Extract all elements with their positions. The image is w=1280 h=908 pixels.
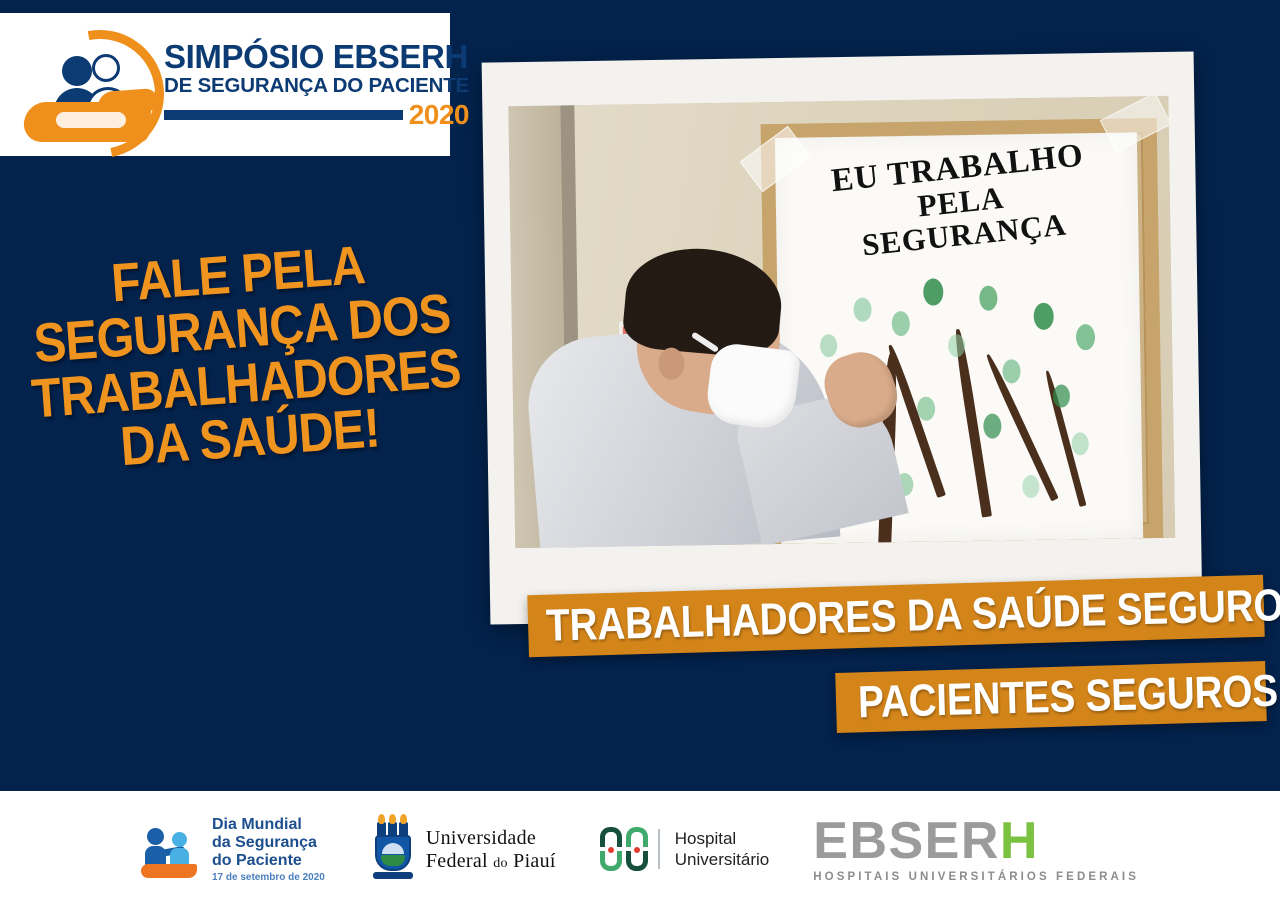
logo-universidade-federal-do-piaui: Universidade Federal do Piauí (369, 821, 556, 879)
event-year-row: 2020 (164, 101, 469, 129)
logo-hand-highlight (56, 112, 126, 128)
campaign-photo: EU TRABALHO PELA SEGURANÇA (508, 96, 1175, 548)
ufpi-do: do (493, 856, 508, 871)
dia-mundial-text: Dia Mundial da Segurança do Paciente 17 … (212, 816, 325, 884)
dia-mundial-date: 17 de setembro de 2020 (212, 872, 325, 883)
hu-line-2: Universitário (675, 850, 769, 870)
ufpi-line-1: Universidade (426, 827, 556, 849)
event-subtitle: DE SEGURANÇA DO PACIENTE (164, 74, 469, 99)
event-logo-card: SIMPÓSIO EBSERH DE SEGURANÇA DO PACIENTE… (0, 13, 450, 156)
poster-canvas: SIMPÓSIO EBSERH DE SEGURANÇA DO PACIENTE… (0, 0, 1280, 908)
ufpi-text: Universidade Federal do Piauí (426, 827, 556, 872)
banner-line-2-text: PACIENTES SEGUROS (857, 665, 1278, 729)
logo-divider (164, 110, 403, 120)
banner-line-2: PACIENTES SEGUROS (835, 661, 1267, 733)
hospital-universitario-text: Hospital Universitário (663, 829, 769, 870)
ufpi-crest-icon (369, 821, 417, 879)
logo-ebserh: EBSERH HOSPITAIS UNIVERSITÁRIOS FEDERAIS (813, 815, 1139, 884)
logo-dia-mundial-seguranca-paciente: Dia Mundial da Segurança do Paciente 17 … (141, 816, 325, 884)
logo-hospital-universitario: Hospital Universitário (600, 825, 769, 875)
ebserh-word: EBSERH (813, 815, 1139, 867)
ebserh-tagline: HOSPITAIS UNIVERSITÁRIOS FEDERAIS (813, 872, 1139, 884)
footer-logo-bar: Dia Mundial da Segurança do Paciente 17 … (0, 791, 1280, 908)
two-people-hand-icon (141, 820, 203, 880)
ebserh-word-main: EBSER (813, 812, 1000, 870)
logo-person-filled-head (62, 56, 92, 86)
hu-monogram-icon (600, 825, 654, 875)
ebserh-word-accent: H (1000, 812, 1039, 870)
dia-mundial-line-1: Dia Mundial (212, 816, 325, 834)
hu-line-1: Hospital (675, 829, 769, 849)
ufpi-federal: Federal (426, 850, 488, 872)
event-year: 2020 (409, 101, 469, 129)
photo-frame: EU TRABALHO PELA SEGURANÇA (482, 51, 1203, 624)
dia-mundial-line-3: do Paciente (212, 852, 325, 870)
event-title: SIMPÓSIO EBSERH (164, 40, 469, 74)
headline: FALE PELA SEGURANÇA DOS TRABALHADORES DA… (0, 230, 501, 483)
ebserh-wordmark: EBSERH HOSPITAIS UNIVERSITÁRIOS FEDERAIS (813, 815, 1139, 884)
ufpi-line-2: Federal do Piauí (426, 850, 556, 872)
dia-mundial-line-2: da Segurança (212, 834, 325, 852)
logo-person-outline-head (92, 54, 120, 82)
hands-holding-people-icon (18, 26, 158, 144)
event-logo-text: SIMPÓSIO EBSERH DE SEGURANÇA DO PACIENTE… (158, 40, 469, 129)
ufpi-piaui: Piauí (513, 850, 556, 872)
